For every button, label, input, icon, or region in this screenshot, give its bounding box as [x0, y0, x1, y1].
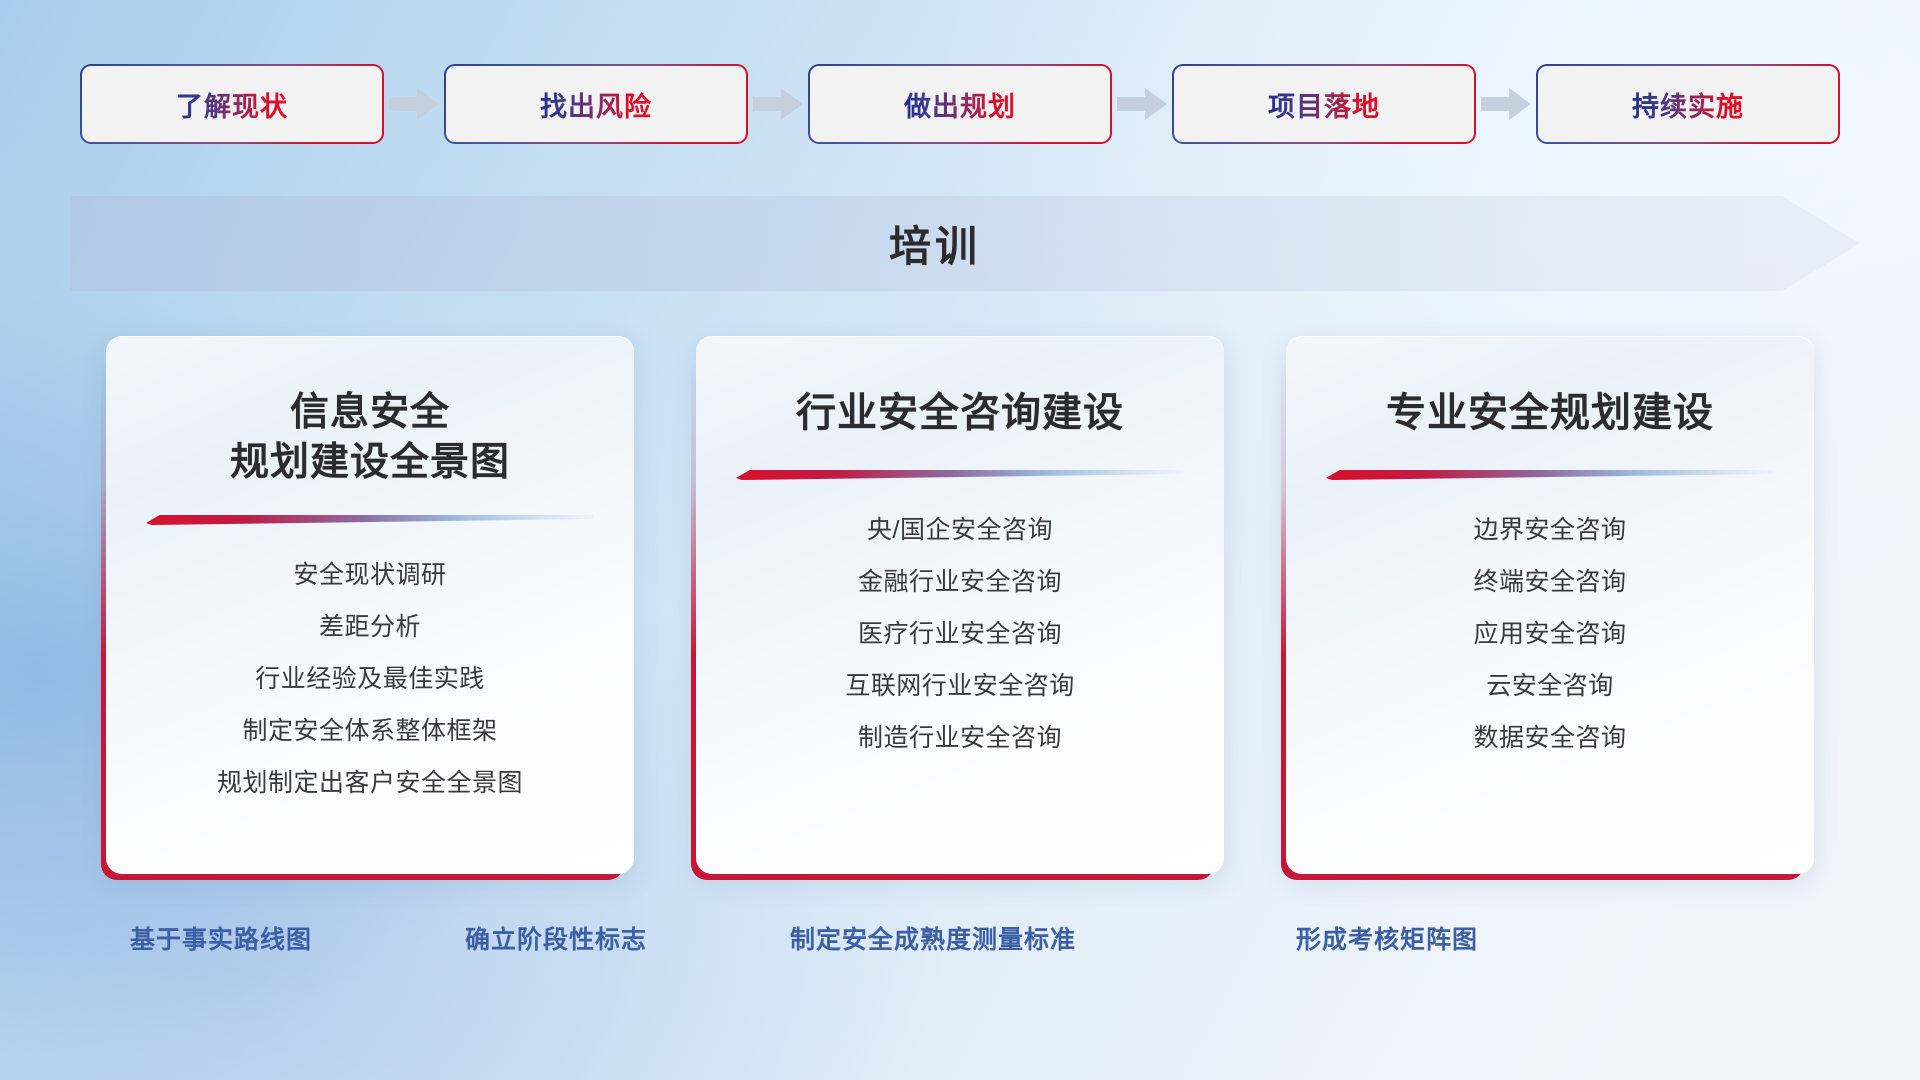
card-1[interactable]: 信息安全 规划建设全景图 安全现状调研 差距分析 行业经验及最佳实践 [106, 336, 634, 874]
right-arrow-icon [382, 82, 446, 126]
step-label-4: 项目落地 [1268, 85, 1380, 124]
caption-3: 制定安全成熟度测量标准 [790, 920, 1076, 956]
right-arrow-icon [1474, 82, 1538, 126]
list-item: 差距分析 [319, 607, 421, 647]
card-3[interactable]: 专业安全规划建设 边界安全咨询 终端安全咨询 应用安全咨询 [1286, 336, 1814, 874]
list-item: 安全现状调研 [293, 555, 446, 595]
step-box-3[interactable]: 做出规划 [810, 66, 1110, 142]
card-divider-2 [736, 469, 1184, 480]
step-label-5: 持续实施 [1632, 85, 1744, 124]
list-item: 金融行业安全咨询 [858, 562, 1062, 602]
card-wrapper-3: 专业安全规划建设 边界安全咨询 终端安全咨询 应用安全咨询 [1286, 336, 1814, 874]
list-item: 央/国企安全咨询 [867, 510, 1053, 550]
card-list-3: 边界安全咨询 终端安全咨询 应用安全咨询 云安全咨询 数据安全咨询 [1320, 510, 1780, 758]
list-item: 云安全咨询 [1486, 666, 1614, 706]
caption-row: 基于事实路线图 确立阶段性标志 制定安全成熟度测量标准 形成考核矩阵图 [0, 920, 1920, 966]
card-wrapper-2: 行业安全咨询建设 央/国企安全咨询 金融行业安全咨询 医疗行业安全咨询 [696, 336, 1224, 874]
step-label-3: 做出规划 [904, 85, 1016, 124]
list-item: 边界安全咨询 [1473, 510, 1626, 550]
right-arrow-icon [1110, 82, 1174, 126]
caption-4: 形成考核矩阵图 [1296, 920, 1478, 956]
list-item: 制定安全体系整体框架 [242, 711, 497, 751]
list-item: 互联网行业安全咨询 [845, 666, 1075, 706]
right-arrow-icon [746, 82, 810, 126]
card-list-1: 安全现状调研 差距分析 行业经验及最佳实践 制定安全体系整体框架 规划制定出客户… [140, 555, 600, 803]
banner-title: 培训 [70, 196, 1860, 291]
process-step-row: 了解现状 找出风险 做出规划 项目落地 持续实施 [0, 66, 1920, 142]
step-box-4[interactable]: 项目落地 [1174, 66, 1474, 142]
list-item: 应用安全咨询 [1473, 614, 1626, 654]
card-2[interactable]: 行业安全咨询建设 央/国企安全咨询 金融行业安全咨询 医疗行业安全咨询 [696, 336, 1224, 874]
card-divider-1 [146, 514, 594, 525]
training-banner: 培训 [70, 196, 1860, 291]
step-label-2: 找出风险 [540, 85, 652, 124]
card-title-2: 行业安全咨询建设 [730, 388, 1190, 439]
list-item: 规划制定出客户安全全景图 [217, 763, 523, 803]
card-row: 信息安全 规划建设全景图 安全现状调研 差距分析 行业经验及最佳实践 [0, 336, 1920, 874]
slide-canvas: 了解现状 找出风险 做出规划 项目落地 持续实施 培训 [0, 0, 1920, 1080]
caption-2: 确立阶段性标志 [465, 920, 647, 956]
list-item: 医疗行业安全咨询 [858, 614, 1062, 654]
list-item: 终端安全咨询 [1473, 562, 1626, 602]
step-label-1: 了解现状 [176, 85, 288, 124]
step-box-2[interactable]: 找出风险 [446, 66, 746, 142]
card-divider-3 [1326, 469, 1774, 480]
list-item: 制造行业安全咨询 [858, 718, 1062, 758]
card-title-1: 信息安全 规划建设全景图 [140, 388, 600, 488]
caption-1: 基于事实路线图 [130, 920, 312, 956]
list-item: 数据安全咨询 [1473, 718, 1626, 758]
card-list-2: 央/国企安全咨询 金融行业安全咨询 医疗行业安全咨询 互联网行业安全咨询 制造行… [730, 510, 1190, 758]
step-box-5[interactable]: 持续实施 [1538, 66, 1838, 142]
step-box-1[interactable]: 了解现状 [82, 66, 382, 142]
card-wrapper-1: 信息安全 规划建设全景图 安全现状调研 差距分析 行业经验及最佳实践 [106, 336, 634, 874]
card-title-3: 专业安全规划建设 [1320, 388, 1780, 439]
list-item: 行业经验及最佳实践 [255, 659, 485, 699]
